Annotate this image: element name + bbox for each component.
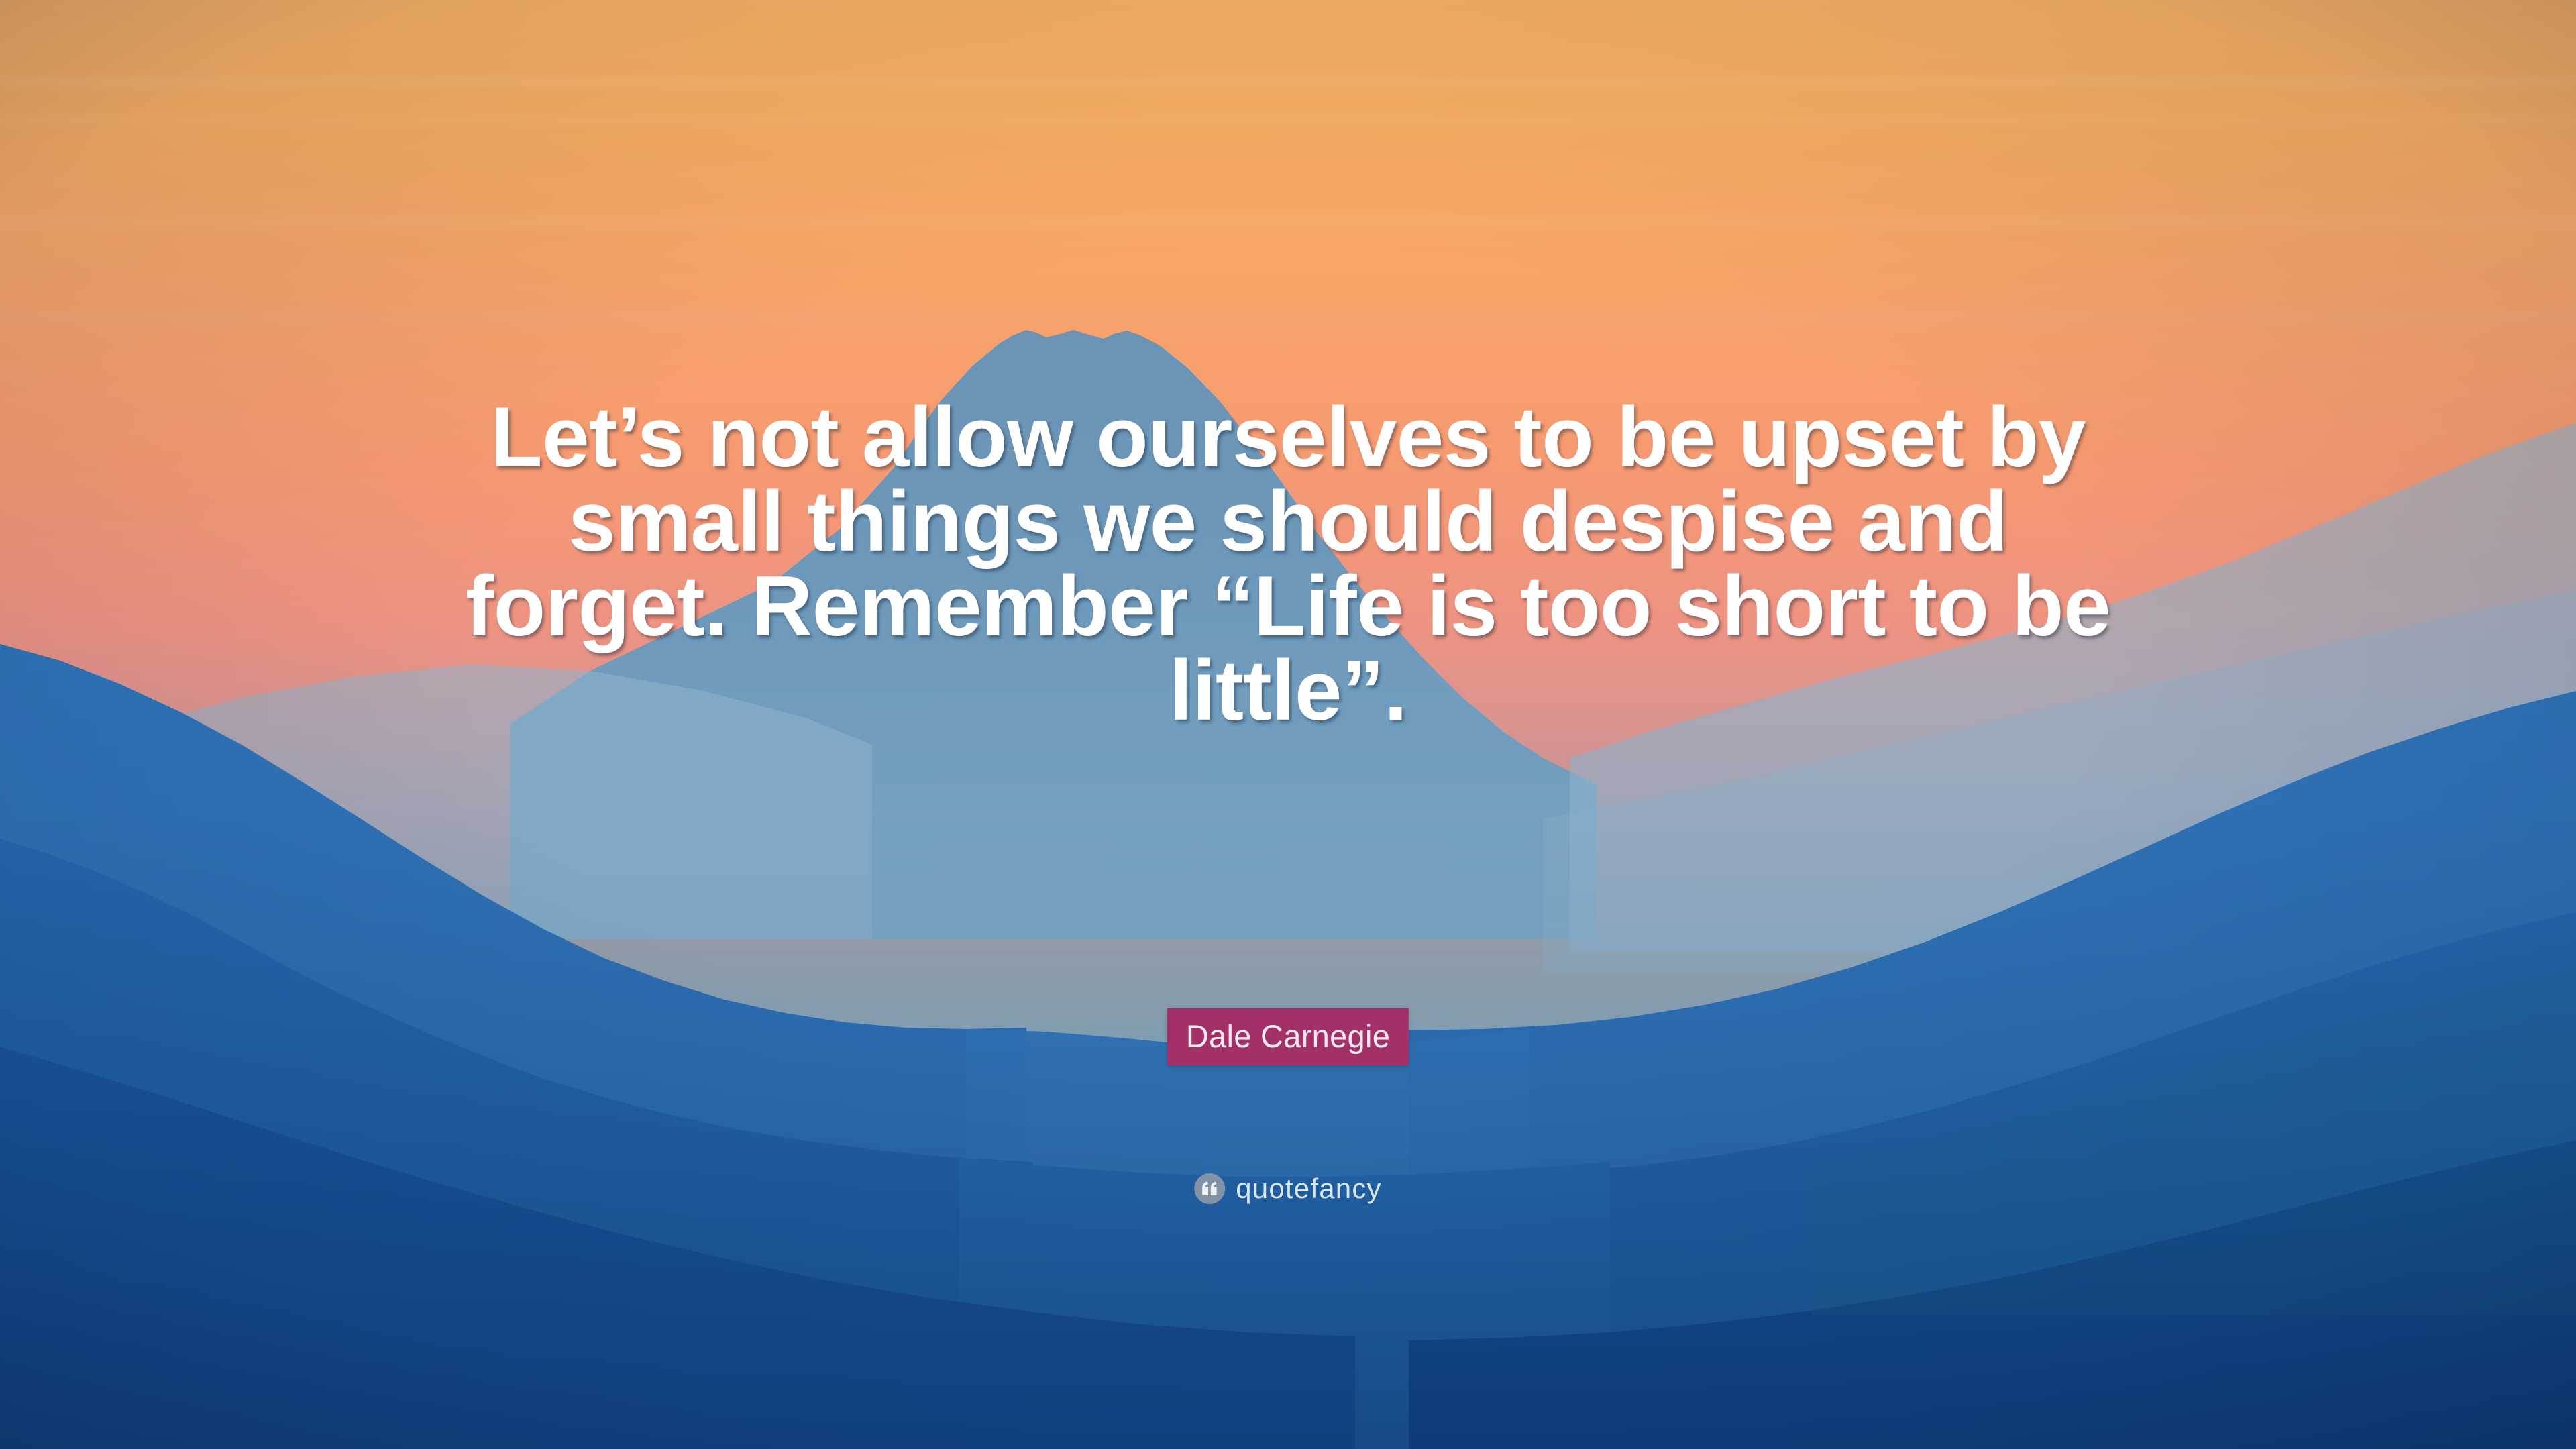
wallpaper-canvas: Let’s not allow ourselves to be upset by… — [0, 0, 2576, 1449]
quotefancy-logo[interactable]: quotefancy — [1194, 1173, 1382, 1204]
author-badge[interactable]: Dale Carnegie — [1167, 1008, 1409, 1065]
quote-marks-icon — [1194, 1173, 1225, 1204]
quote-text: Let’s not allow ourselves to be upset by… — [456, 394, 2120, 733]
quote-content: Let’s not allow ourselves to be upset by… — [0, 0, 2576, 1449]
quotefancy-wordmark: quotefancy — [1236, 1175, 1382, 1203]
